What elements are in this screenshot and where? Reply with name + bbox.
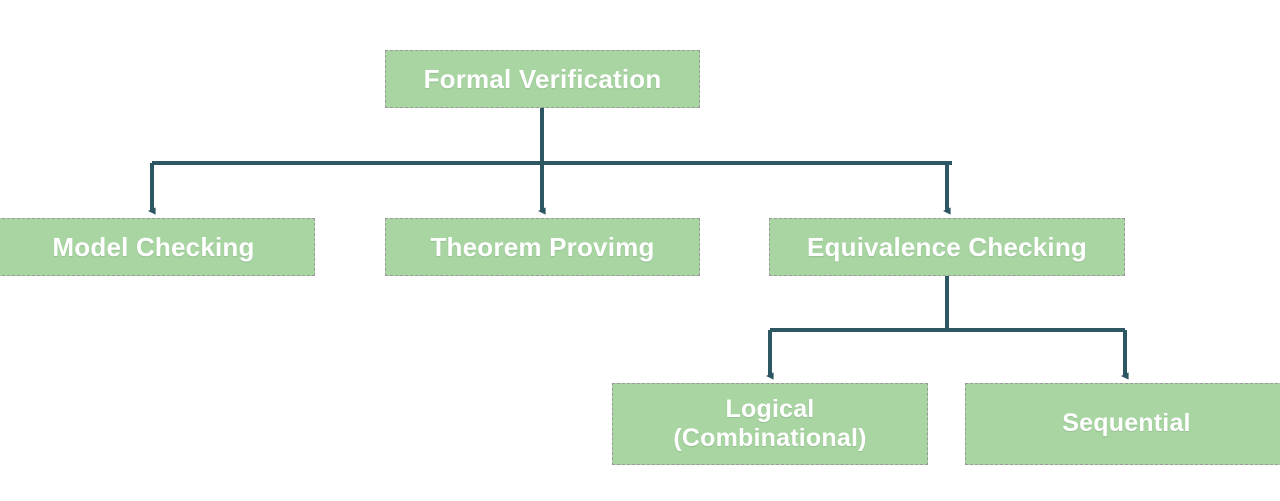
node-equivalence-checking[interactable]: Equivalence Checking — [769, 218, 1125, 276]
node-model-checking[interactable]: Model Checking — [0, 218, 315, 276]
node-formal-verification[interactable]: Formal Verification — [385, 50, 700, 108]
node-label: Formal Verification — [418, 64, 668, 95]
node-label: Sequential — [1056, 409, 1196, 439]
node-label: Theorem Provimg — [424, 232, 660, 263]
node-theorem-proving[interactable]: Theorem Provimg — [385, 218, 700, 276]
node-label: Logical (Combinational) — [667, 395, 872, 454]
node-sequential[interactable]: Sequential — [965, 383, 1280, 465]
node-logical-combinational[interactable]: Logical (Combinational) — [612, 383, 928, 465]
diagram-canvas: Formal Verification Model Checking Theor… — [0, 0, 1280, 501]
node-label: Model Checking — [46, 232, 260, 263]
node-label: Equivalence Checking — [801, 232, 1093, 263]
